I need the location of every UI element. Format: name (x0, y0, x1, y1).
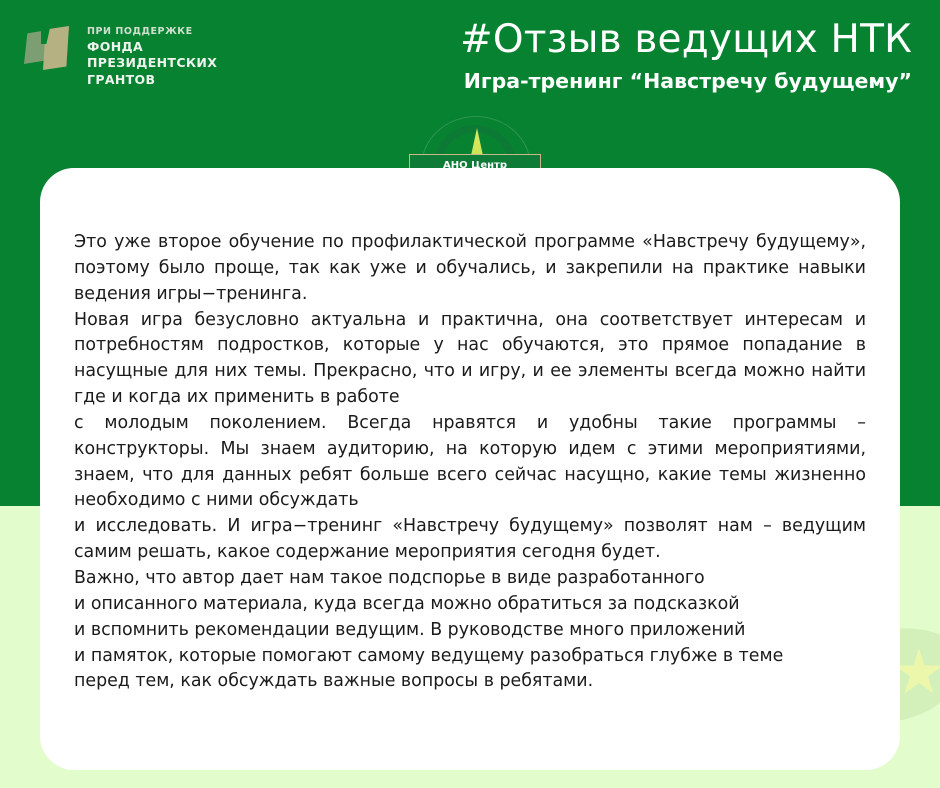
paragraph: и памяток, которые помогают самому ведущ… (74, 644, 866, 670)
testimonial-card: Это уже второе обучение по профилактичес… (40, 168, 900, 770)
logo-fund-line-1: Фонда (87, 39, 217, 56)
logo-fund-line-3: грантов (87, 72, 217, 89)
logo-support-line: При поддержке (87, 26, 217, 39)
paragraph: и вспомнить рекомендации ведущим. В руко… (74, 618, 866, 644)
flag-logo-icon (24, 24, 76, 76)
logo-text: При поддержке Фонда Президентских гранто… (87, 24, 217, 88)
paragraph: и исследовать. И игра−тренинг «Навстречу… (74, 514, 866, 566)
logo-fund-line-2: Президентских (87, 55, 217, 72)
paragraph: Это уже второе обучение по профилактичес… (74, 230, 866, 308)
page-subtitle: Игра-тренинг “Навстречу будущему” (292, 69, 912, 94)
presidential-grants-logo: При поддержке Фонда Президентских гранто… (24, 24, 217, 88)
title-group: #Отзыв ведущих НТК Игра-тренинг “Навстре… (292, 18, 912, 93)
paragraph: с молодым поколением. Всегда нравятся и … (74, 411, 866, 514)
paragraph: и описанного материала, куда всегда можн… (74, 592, 866, 618)
paragraph: Важно, что автор дает нам такое подспорь… (74, 566, 866, 592)
page-title: #Отзыв ведущих НТК (292, 18, 912, 62)
testimonial-text: Это уже второе обучение по профилактичес… (74, 230, 866, 695)
slide-canvas: При поддержке Фонда Президентских гранто… (0, 0, 940, 788)
paragraph: Новая игра безусловно актуальна и практи… (74, 308, 866, 411)
paragraph: перед тем, как обсуждать важные вопросы … (74, 669, 866, 695)
